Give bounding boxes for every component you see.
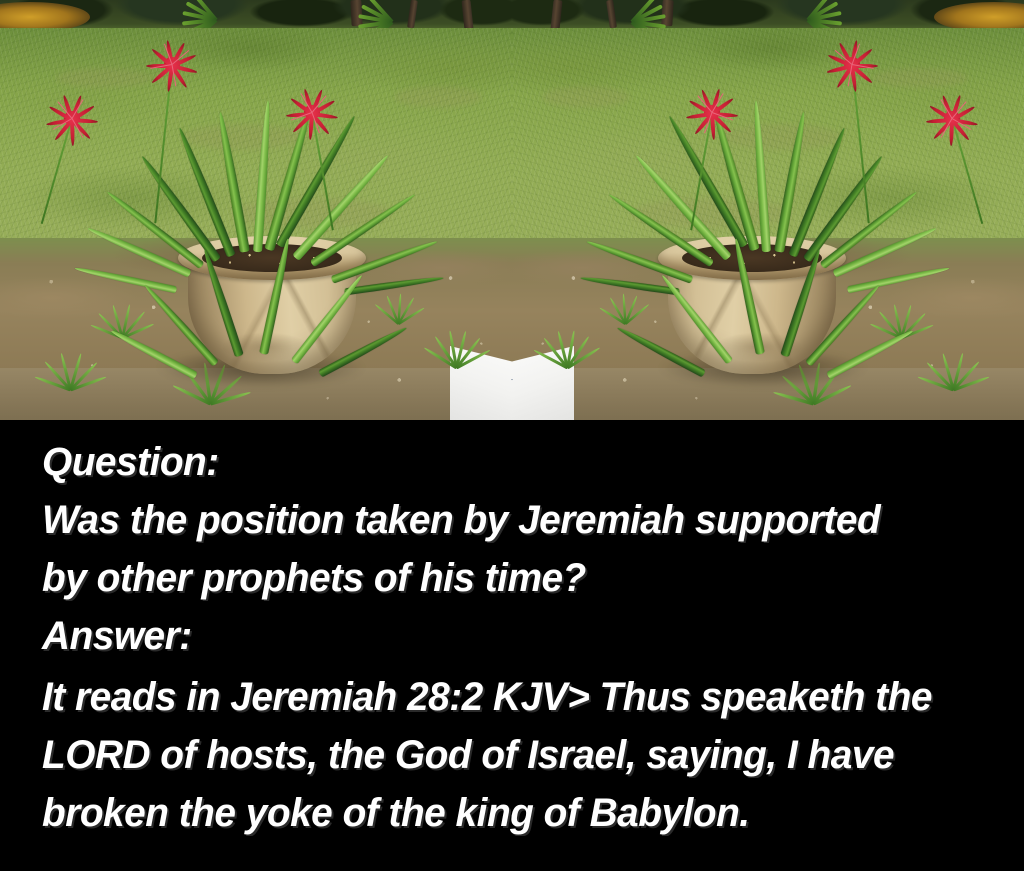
question-line-1: Was the position taken by Jeremiah suppo… — [42, 500, 880, 540]
garden-scene — [512, 0, 1024, 420]
answer-line-2: LORD of hosts, the God of Israel, saying… — [42, 735, 894, 775]
tree-trunk — [661, 0, 673, 26]
photo-half-left-mirrored — [0, 0, 512, 420]
tree-trunk — [461, 0, 473, 30]
question-answer-panel: Question: Was the position taken by Jere… — [0, 420, 1024, 871]
answer-line-3: broken the yoke of the king of Babylon. — [42, 793, 750, 833]
question-label: Question: — [42, 442, 219, 482]
lawn-dry-patch — [872, 68, 968, 88]
tree-trunk — [350, 0, 362, 26]
question-line-2: by other prophets of his time? — [42, 558, 586, 598]
tree-trunk — [606, 0, 617, 28]
garden-scene-mirror — [0, 0, 512, 420]
lawn-dry-patch — [722, 124, 842, 150]
photo-half-right — [512, 0, 1024, 420]
lawn-dry-patch — [542, 86, 630, 108]
lawn-dry-patch — [394, 86, 482, 108]
mirrored-garden-photo — [0, 0, 1024, 420]
answer-label: Answer: — [42, 616, 192, 656]
answer-line-1: It reads in Jeremiah 28:2 KJV> Thus spea… — [42, 677, 932, 717]
tree-trunk — [550, 0, 562, 30]
tree-trunk — [407, 0, 418, 28]
lawn-dry-patch — [56, 68, 152, 88]
qa-image-page: Question: Was the position taken by Jere… — [0, 0, 1024, 871]
lawn-dry-patch — [182, 124, 302, 150]
